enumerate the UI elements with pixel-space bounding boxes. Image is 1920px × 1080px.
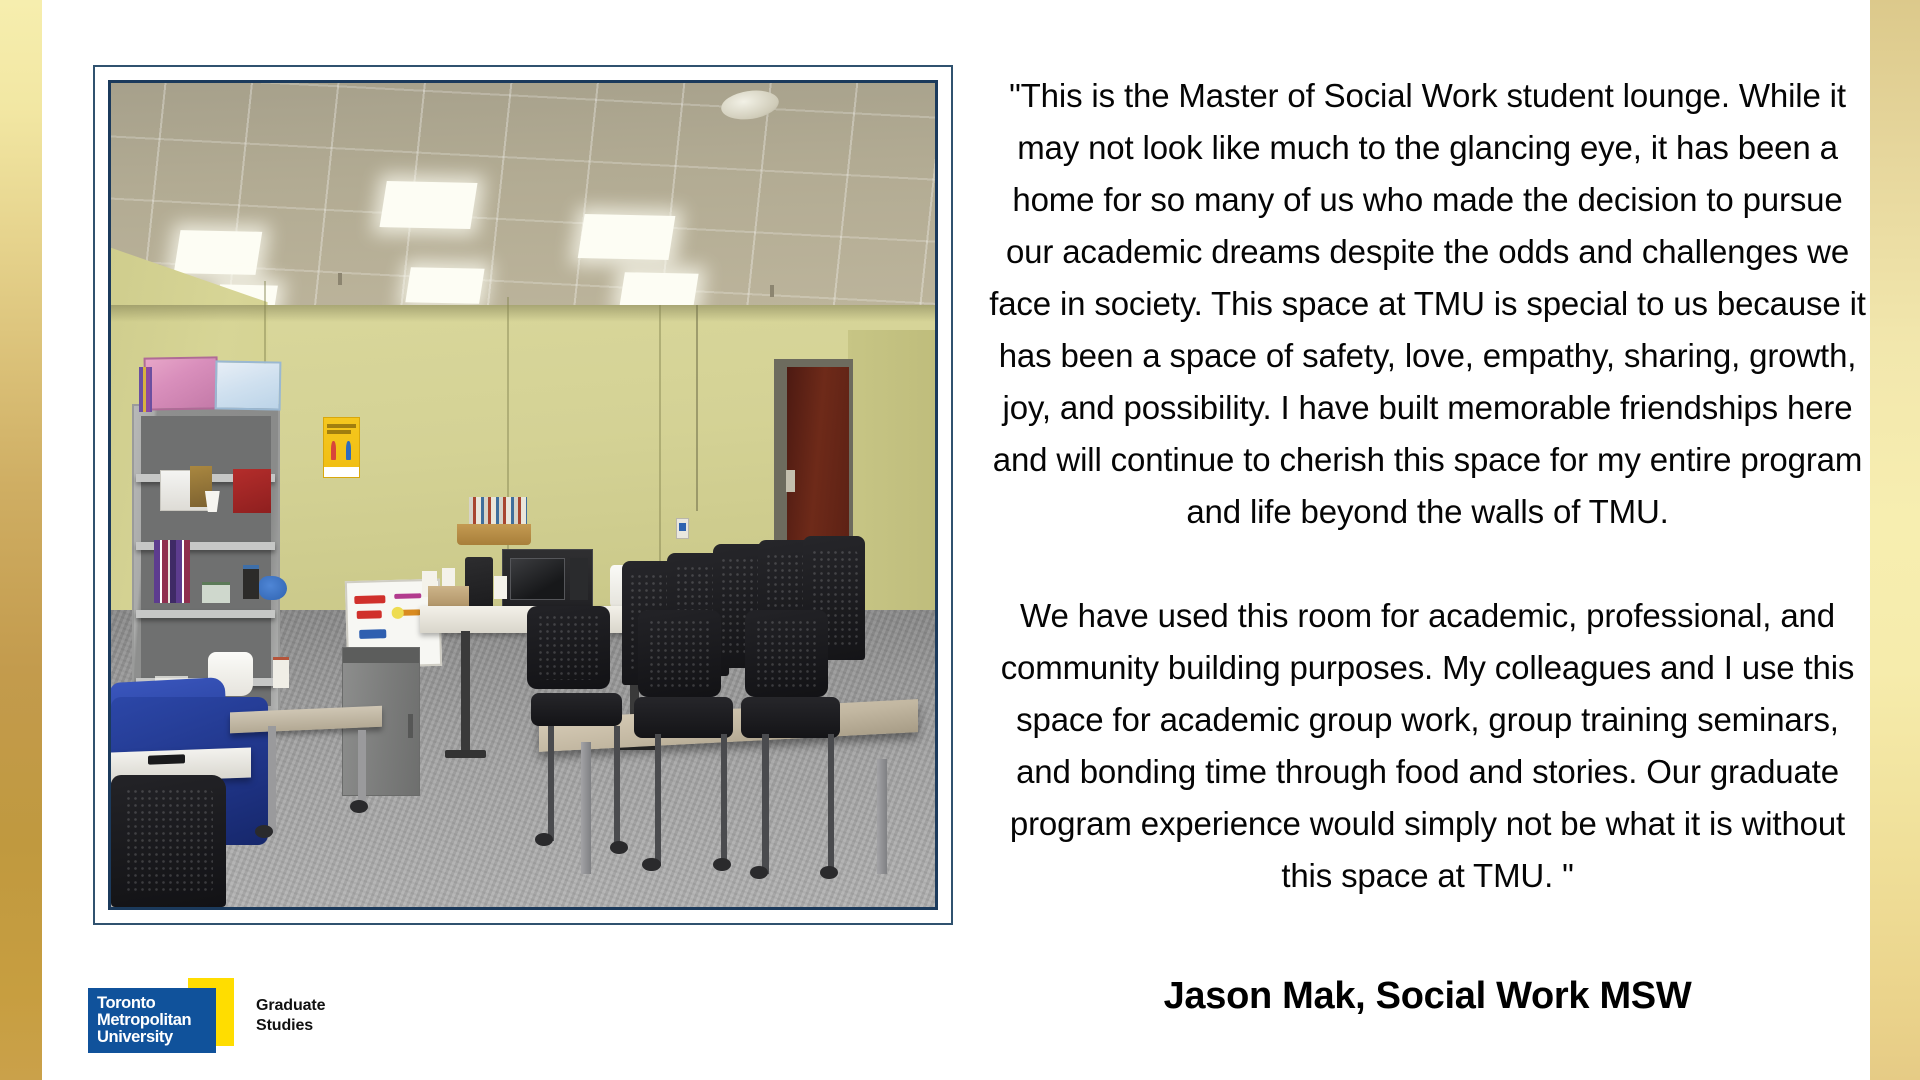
quote-paragraph-2: We have used this room for academic, pro… — [985, 590, 1870, 902]
chair-mesh-back — [537, 614, 600, 680]
chair-leg — [721, 734, 728, 866]
room-scene — [111, 83, 935, 907]
ceiling-light — [619, 272, 698, 308]
remote-control — [148, 754, 185, 764]
testimonial-slide: "This is the Master of Social Work stude… — [0, 0, 1920, 1080]
wall-cord — [696, 305, 698, 511]
wall-switch-plate — [676, 518, 689, 539]
poster-figure — [346, 441, 352, 460]
chair-seat — [634, 697, 733, 738]
logo-blue-block: Toronto Metropolitan University — [88, 988, 216, 1053]
book-row — [154, 540, 190, 603]
poster-headline — [327, 424, 356, 428]
lounge-photo — [108, 80, 938, 910]
egg-carton — [428, 586, 469, 607]
mesh-chair-back — [638, 610, 720, 697]
chair-leg — [548, 726, 555, 841]
logo-university-name: Toronto Metropolitan University — [97, 995, 191, 1046]
chair-mesh-back — [648, 619, 711, 688]
logo-unit-name: Graduate Studies — [256, 996, 325, 1036]
paragraph-spacer — [985, 538, 1870, 590]
poster-footer — [324, 467, 359, 476]
pink-artwork — [143, 357, 218, 411]
ceiling-light — [379, 181, 477, 229]
ceiling-light — [577, 214, 674, 260]
sprinkler-head — [770, 285, 774, 297]
chair-seat — [741, 697, 840, 738]
wicker-basket — [457, 524, 531, 545]
green-box — [202, 582, 230, 603]
coffee-maker — [465, 557, 493, 610]
counter-leg — [461, 631, 470, 755]
microwave-window — [510, 558, 565, 600]
whiteboard-drawing — [391, 607, 404, 619]
fridge-top — [343, 648, 419, 663]
sprinkler-head — [338, 273, 342, 285]
poster-figure — [331, 441, 337, 460]
chair-caster — [820, 866, 838, 879]
fridge-handle — [408, 714, 413, 737]
tmu-graduate-studies-logo: Toronto Metropolitan University Graduate… — [88, 978, 408, 1058]
mesh-chair-back — [527, 606, 609, 688]
cup — [494, 576, 507, 599]
jar — [243, 565, 259, 599]
blue-artwork — [214, 360, 281, 411]
bookshelf-shelf — [136, 610, 275, 617]
chair-seat — [531, 693, 622, 726]
microwave — [502, 549, 593, 611]
table-leg — [877, 759, 887, 874]
door-handle — [786, 470, 795, 491]
gold-gradient-band-left — [0, 0, 42, 1080]
microwave-control-panel — [570, 558, 588, 600]
basket-contents — [469, 497, 527, 527]
testimonial-quote: "This is the Master of Social Work stude… — [985, 70, 1870, 902]
chair-caster — [750, 866, 768, 879]
whiteboard-writing — [354, 595, 385, 603]
wall-ceiling-shadow — [111, 305, 935, 321]
chair-mesh-back — [125, 788, 213, 893]
counter-foot — [445, 750, 486, 757]
red-box — [233, 469, 271, 513]
quote-attribution: Jason Mak, Social Work MSW — [985, 975, 1870, 1018]
table-caster — [350, 800, 368, 813]
chair-leg — [614, 726, 621, 850]
chair-leg — [655, 734, 662, 866]
table-leg — [581, 742, 591, 874]
ceiling-light — [174, 230, 263, 275]
ceiling-light — [405, 268, 484, 304]
chair-caster — [713, 858, 731, 871]
book-stack — [139, 367, 152, 411]
gold-gradient-band-right — [1870, 0, 1920, 1080]
photo-frame — [93, 65, 953, 925]
poster-subhead — [327, 430, 352, 434]
chair-mesh-back — [755, 619, 818, 688]
chair-caster — [642, 858, 660, 871]
table-leg — [268, 726, 276, 833]
whiteboard-writing — [359, 629, 386, 639]
foreground-chair — [111, 775, 226, 907]
quote-paragraph-1: "This is the Master of Social Work stude… — [985, 70, 1870, 538]
chair-leg — [828, 734, 835, 874]
pen-cup — [273, 657, 289, 688]
table-caster — [255, 825, 273, 838]
wall-poster — [323, 417, 360, 478]
whiteboard-writing — [394, 593, 421, 600]
chair-leg — [762, 734, 769, 874]
mesh-chair-back — [745, 610, 827, 697]
chair-caster — [610, 841, 628, 854]
whiteboard-writing — [357, 610, 383, 618]
